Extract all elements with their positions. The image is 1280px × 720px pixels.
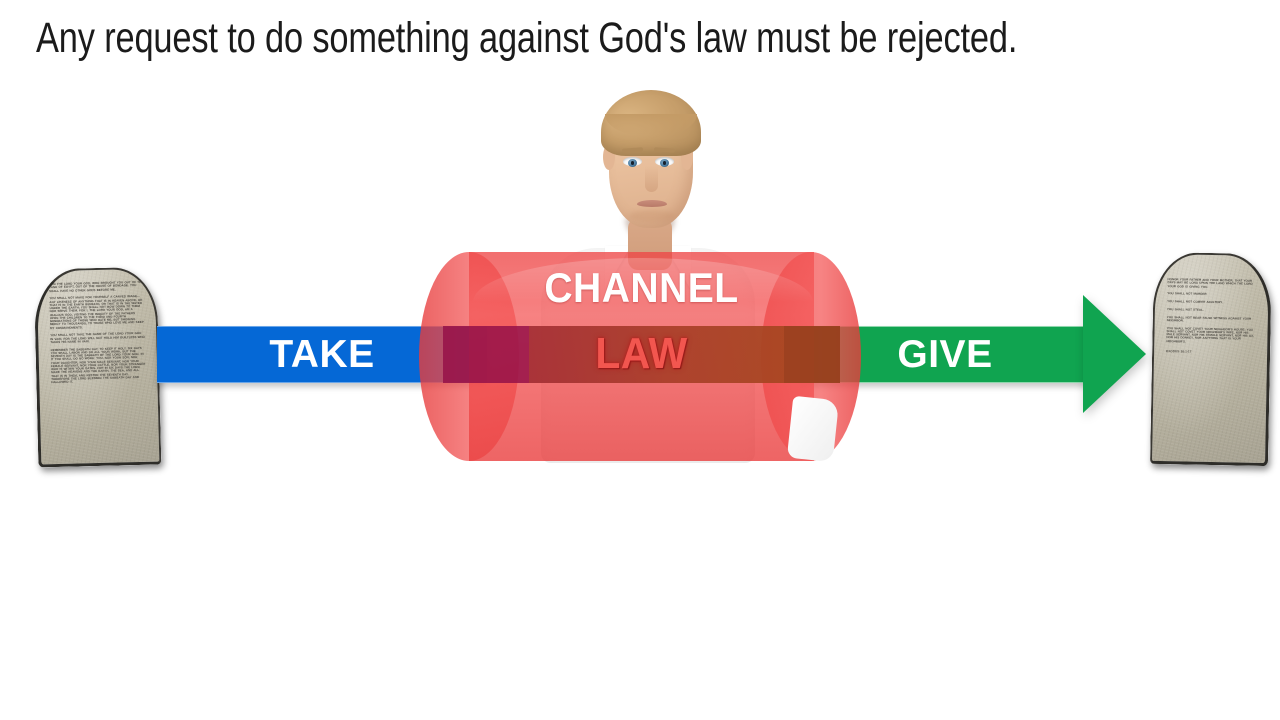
nose [645,166,658,192]
arrow-head-icon [1083,295,1146,413]
tablet-right-scripture-reference: EXODUS 20:1-17 [1166,350,1256,355]
tablet-left-text: I AM THE LORD YOUR GOD, WHO BROUGHT YOU … [37,269,160,465]
tablet-right-line-2: YOU SHALL NOT MURDER. [1167,292,1257,297]
tablet-left-line-4: REMEMBER THE SABBATH DAY, TO KEEP IT HOL… [51,346,147,384]
give-label: GIVE [800,326,1090,383]
take-label: TAKE [157,326,487,383]
shirt-sleeve [787,396,839,462]
tablet-right-line-6: YOU SHALL NOT COVET YOUR NEIGHBOR'S HOUS… [1166,327,1256,345]
channel-label: CHANNEL [457,266,826,310]
eye-right [655,157,674,166]
slide-canvas: Any request to do something against God'… [0,0,1280,720]
tablet-right-line-3: YOU SHALL NOT COMMIT ADULTERY. [1167,300,1257,305]
page-title: Any request to do something against God'… [36,16,980,61]
tablet-left-line-3: YOU SHALL NOT TAKE THE NAME OF THE LORD … [50,332,145,344]
tablet-right-line-5: YOU SHALL NOT BEAR FALSE WITNESS AGAINST… [1167,316,1257,324]
tablet-right-text: HONOR YOUR FATHER AND YOUR MOTHER, THAT … [1152,254,1269,463]
pupil-right [663,161,667,165]
pupil-left [631,161,635,165]
law-label: LAW [457,330,826,378]
eye-left [623,157,642,166]
mouth [637,200,667,207]
iris-right [660,159,669,167]
tablet-left-line-1: I AM THE LORD YOUR GOD, WHO BROUGHT YOU … [49,281,144,293]
stone-tablet-left: I AM THE LORD YOUR GOD, WHO BROUGHT YOU … [34,267,162,468]
stone-tablet-right: HONOR YOUR FATHER AND YOUR MOTHER, THAT … [1150,252,1272,466]
tablet-right-line-4: YOU SHALL NOT STEAL. [1167,308,1257,313]
iris-left [628,159,637,167]
tablet-right-line-1: HONOR YOUR FATHER AND YOUR MOTHER, THAT … [1167,278,1257,289]
tablet-left-line-2: YOU SHALL NOT MAKE FOR YOURSELF A CARVED… [49,295,145,330]
chin-shadow [629,210,675,222]
